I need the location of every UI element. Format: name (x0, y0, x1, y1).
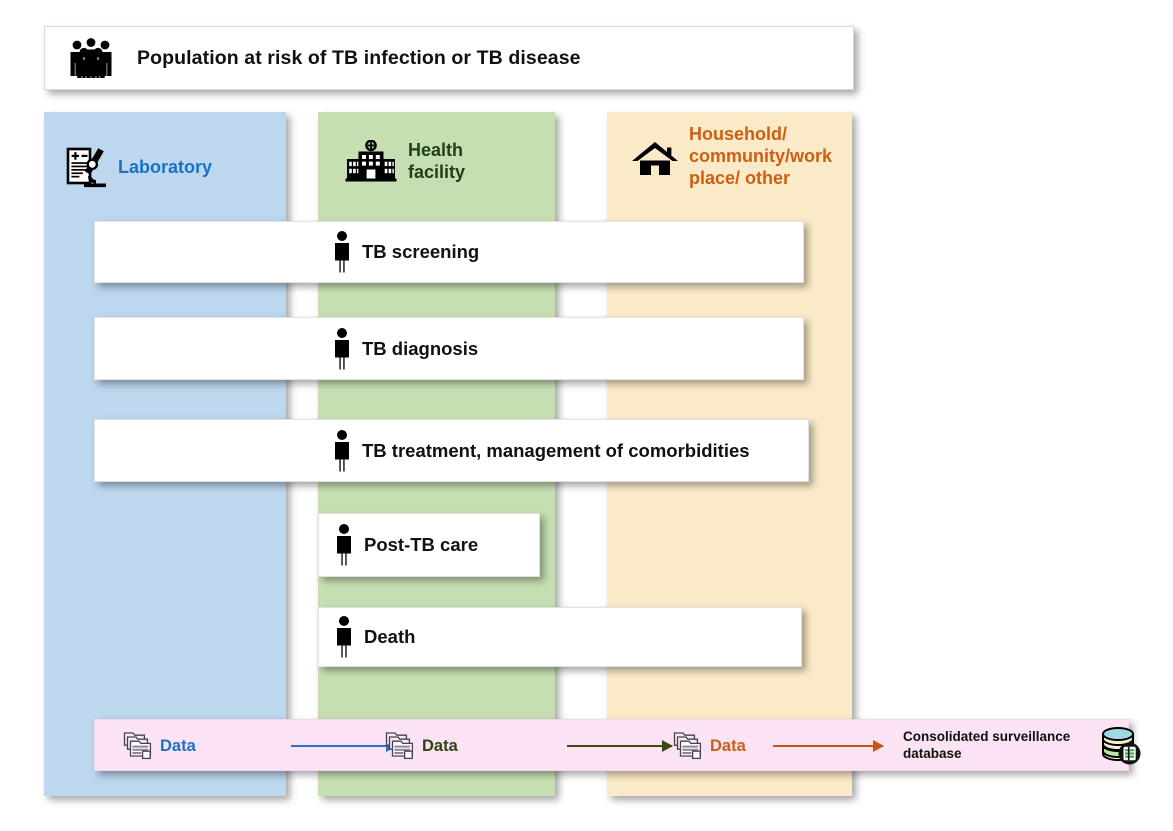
column-household-title-line3: place/ other (689, 168, 790, 188)
process-bar-label: Post-TB care (364, 534, 478, 556)
arrow-health-facility-to-household-icon (567, 745, 672, 747)
data-node-label: Data (422, 737, 458, 756)
banner-title: Population at risk of TB infection or TB… (137, 47, 581, 70)
house-icon (631, 135, 679, 179)
person-icon (333, 615, 355, 659)
column-household-community-title: Household/ community/work place/ other (689, 124, 832, 190)
column-household-title-line1: Household/ (689, 124, 787, 144)
process-bar-post-tb-care: Post-TB care (318, 513, 540, 577)
data-node-label: Data (160, 737, 196, 756)
column-household-title-line2: community/work (689, 146, 832, 166)
hospital-building-icon (344, 140, 398, 184)
column-health-facility-title-line1: Health (408, 140, 463, 160)
person-icon (331, 327, 353, 371)
data-node-household: Data (673, 720, 746, 772)
database-label-line1: Consolidated surveillance (903, 729, 1070, 744)
data-files-icon (673, 731, 703, 761)
column-laboratory-header: Laboratory (44, 112, 286, 190)
arrow-household-to-database-icon (773, 745, 883, 747)
person-icon (331, 429, 353, 473)
column-health-facility-title: Health facility (408, 140, 465, 184)
database-label-line2: database (903, 746, 962, 761)
column-household-community-header: Household/ community/work place/ other (607, 112, 852, 190)
column-laboratory-title: Laboratory (118, 157, 212, 179)
population-at-risk-banner: Population at risk of TB infection or TB… (44, 26, 854, 90)
people-group-icon (45, 36, 137, 80)
person-icon (333, 523, 355, 567)
process-bar-label: TB screening (362, 241, 479, 263)
diagram-canvas: Population at risk of TB infection or TB… (0, 0, 1173, 831)
database-icon (1099, 725, 1141, 767)
process-bar-label: TB diagnosis (362, 338, 478, 360)
process-bar-label: TB treatment, management of comorbiditie… (362, 440, 750, 462)
data-node-health-facility: Data (385, 720, 458, 772)
data-files-icon (385, 731, 415, 761)
data-node-label: Data (710, 737, 746, 756)
data-node-laboratory: Data (123, 720, 196, 772)
process-bar-tb-screening: TB screening (94, 221, 804, 283)
process-bar-label: Death (364, 626, 415, 648)
clipboard-microscope-icon (66, 146, 108, 190)
data-files-icon (123, 731, 153, 761)
data-flow-bar: Data Data (94, 719, 1129, 771)
column-health-facility-header: Health facility (318, 112, 555, 184)
consolidated-surveillance-database: Consolidated surveillance database (903, 720, 1141, 772)
database-label: Consolidated surveillance database (903, 729, 1091, 763)
column-health-facility-title-line2: facility (408, 162, 465, 182)
arrow-lab-to-health-facility-icon (291, 745, 396, 747)
process-bar-death: Death (318, 607, 802, 667)
person-icon (331, 230, 353, 274)
process-bar-tb-treatment: TB treatment, management of comorbiditie… (94, 419, 809, 482)
process-bar-tb-diagnosis: TB diagnosis (94, 317, 804, 380)
